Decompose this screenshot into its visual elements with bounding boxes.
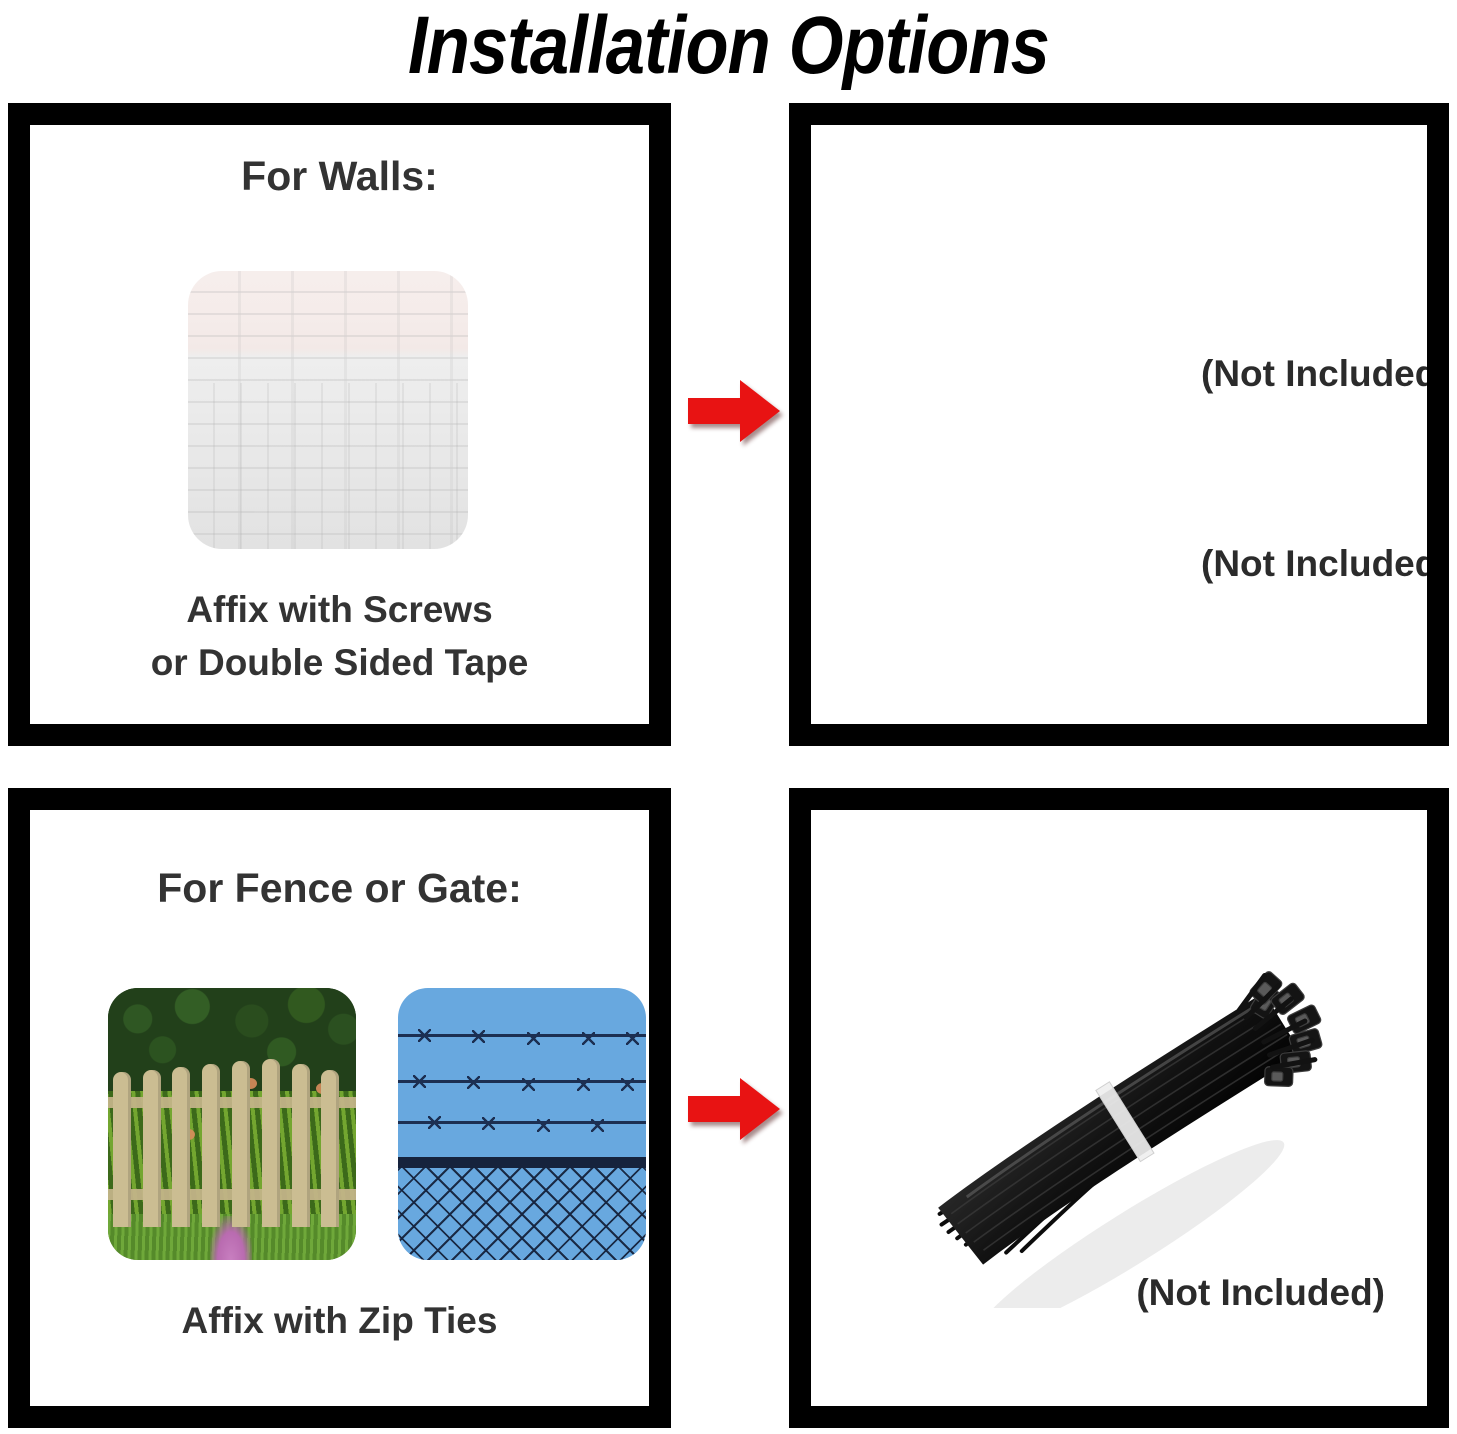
screws-not-included-label: (Not Included) — [1201, 543, 1427, 585]
black-zip-ties-bundle-icon — [881, 938, 1361, 1308]
panel-fence-hardware-content: (Not Included) — [811, 810, 1427, 1406]
walls-caption-line-2: or Double Sided Tape — [30, 636, 649, 690]
walls-caption-line-1: Affix with Screws — [30, 583, 649, 637]
panel-wall-hardware-content: (Not Included) — [811, 125, 1427, 724]
walls-heading: For Walls: — [30, 153, 649, 200]
fence-caption: Affix with Zip Ties — [30, 1294, 649, 1348]
zip-ties-not-included-label: (Not Included) — [1136, 1272, 1385, 1314]
panel-for-walls: For Walls: Affix with Screws or Double S… — [8, 103, 671, 746]
red-arrow-right-icon — [688, 378, 780, 444]
chain-link-fence-photo — [398, 988, 646, 1260]
panel-fence-hardware: (Not Included) — [789, 788, 1449, 1428]
panel-for-fence-or-gate-content: For Fence or Gate: — [30, 810, 649, 1406]
panel-for-fence-or-gate: For Fence or Gate: — [8, 788, 671, 1428]
walls-caption: Affix with Screws or Double Sided Tape — [30, 583, 649, 690]
fence-heading: For Fence or Gate: — [30, 865, 649, 912]
page-title: Installation Options — [102, 0, 1355, 92]
tape-not-included-label: (Not Included) — [1201, 353, 1427, 395]
white-brick-wall-photo — [188, 271, 468, 549]
panel-for-walls-content: For Walls: Affix with Screws or Double S… — [30, 125, 649, 724]
panel-wall-hardware: (Not Included) — [789, 103, 1449, 746]
red-arrow-right-icon — [688, 1076, 780, 1142]
wooden-picket-fence-photo — [108, 988, 356, 1260]
